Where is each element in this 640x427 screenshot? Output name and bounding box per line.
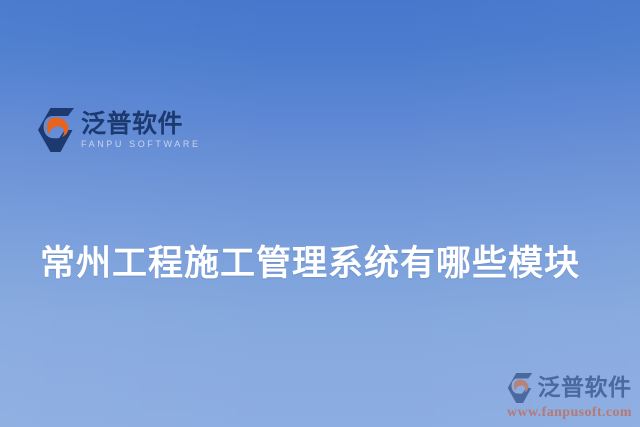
watermark-brand-name: 泛普软件 [537, 377, 631, 400]
watermark-fanpu-shield-icon [507, 373, 533, 403]
watermark: 泛普软件 www.fanpusoft.com [507, 373, 632, 421]
page-title: 常州工程施工管理系统有哪些模块 [40, 242, 580, 286]
brand-name-cn: 泛普软件 [81, 111, 201, 137]
brand-logo[interactable]: 泛普软件 FANPU SOFTWARE [38, 108, 201, 152]
slide-canvas: 泛普软件 FANPU SOFTWARE 常州工程施工管理系统有哪些模块 泛普软件… [0, 0, 640, 427]
watermark-logo-row: 泛普软件 [507, 373, 631, 403]
watermark-url: www.fanpusoft.com [507, 405, 632, 421]
brand-name-en: FANPU SOFTWARE [81, 140, 201, 149]
fanpu-shield-icon [38, 108, 74, 152]
brand-logo-wordmark: 泛普软件 FANPU SOFTWARE [81, 111, 201, 149]
